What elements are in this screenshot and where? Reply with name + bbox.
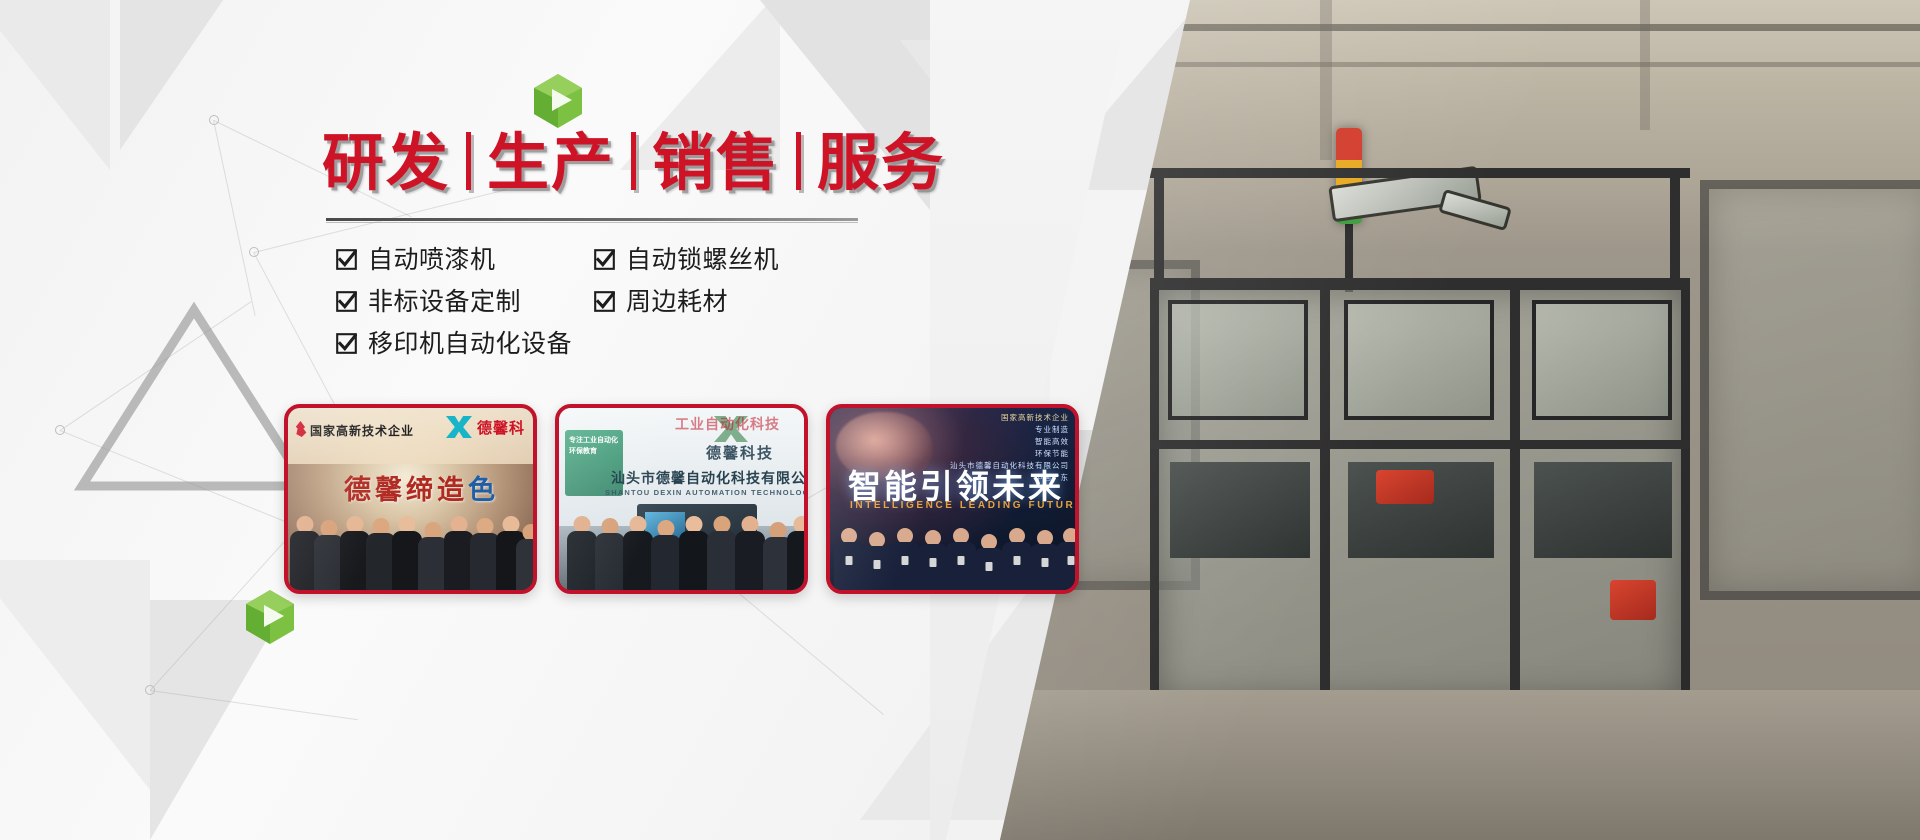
- machine-upright: [1510, 280, 1520, 710]
- machine-crossbar: [1150, 278, 1690, 290]
- headline-word-4: 服务: [817, 132, 945, 194]
- thumb2-brand: 德馨科技: [706, 442, 774, 463]
- thumb3-tag-2: 环保节能: [950, 448, 1069, 460]
- list-item: 自动锁螺丝机: [594, 238, 884, 280]
- hexagon-play-icon: [530, 72, 586, 128]
- machine-upright: [1154, 168, 1164, 288]
- machine-upright: [1320, 280, 1330, 710]
- list-item-label: 周边耗材: [626, 289, 728, 314]
- machine-window: [1344, 300, 1494, 420]
- ceiling-beam: [1000, 62, 1920, 67]
- thumb2-green-card-text: 专注工业自动化 环保教育: [565, 430, 623, 463]
- ceiling-beam: [1000, 24, 1920, 31]
- headline-word-2: 生产: [487, 132, 615, 194]
- machine-top-rail: [1150, 168, 1690, 178]
- photo-gallery: 国家高新技术企业 德馨科 德馨缔造色: [284, 404, 1079, 594]
- headline-separator: [466, 132, 471, 190]
- thumb1-slogan: 德馨缔造色: [344, 468, 499, 507]
- automation-machine: [1140, 110, 1700, 770]
- thumb2-company-en: SHANTOU DEXIN AUTOMATION TECHNOLOGY CO.,…: [605, 488, 804, 497]
- gallery-thumb-exhibition-booth[interactable]: 专注工业自动化 环保教育 工业自动化科技 德馨科技 汕头市德馨自动化科技有限公司…: [555, 404, 808, 594]
- thumb1-badge-text: 国家高新技术企业: [310, 422, 414, 439]
- factory-automation-machine-photo: [1000, 0, 1920, 840]
- list-item-label: 自动喷漆机: [368, 247, 496, 272]
- thumb2-brand-red: 工业自动化科技: [675, 414, 780, 434]
- checkbox-checked-icon: [336, 249, 357, 270]
- thumb1-brand: 德馨科: [477, 417, 525, 438]
- gallery-thumb-intelligent-future[interactable]: 国家高新技术企业 专业制造 智能高效 环保节能 汕头市德馨自动化科技有限公司 中…: [826, 404, 1079, 594]
- checkbox-checked-icon: [336, 291, 357, 312]
- list-item: 非标设备定制: [336, 280, 594, 322]
- machine-red-module: [1610, 580, 1656, 620]
- banner-content: 研发 生产 销售 服务 自动喷漆机: [0, 0, 1080, 840]
- checkbox-checked-icon: [336, 333, 357, 354]
- feature-list: 自动喷漆机 自动锁螺丝机 非标设备定制: [336, 238, 896, 364]
- headline-word-3: 销售: [652, 132, 780, 194]
- crowd-group: [559, 510, 804, 590]
- divider: [326, 218, 858, 221]
- gallery-thumb-award-ceremony[interactable]: 国家高新技术企业 德馨科 德馨缔造色: [284, 404, 537, 594]
- thumb3-tag-1: 智能高效: [950, 436, 1069, 448]
- headline-separator: [796, 132, 801, 190]
- machine-upright: [1670, 168, 1680, 288]
- machine-crossbar: [1150, 440, 1690, 449]
- background-rack: [1700, 180, 1920, 600]
- crowd-group: [288, 504, 533, 590]
- machine-control-panel: [1170, 462, 1310, 558]
- list-item-label: 非标设备定制: [368, 289, 521, 314]
- headline-word-1: 研发: [322, 132, 450, 194]
- x-mark-icon: [446, 416, 472, 438]
- machine-control-panel: [1534, 462, 1672, 558]
- crowd-group: [830, 520, 1075, 590]
- checkbox-checked-icon: [594, 291, 615, 312]
- machine-window: [1532, 300, 1672, 420]
- page-title: 研发 生产 销售 服务: [322, 132, 945, 194]
- hero-banner: 研发 生产 销售 服务 自动喷漆机: [0, 0, 1920, 840]
- thumb2-company-cn: 汕头市德馨自动化科技有限公司: [611, 468, 804, 488]
- dexin-logo: 德馨科: [446, 416, 525, 438]
- factory-floor: [1000, 690, 1920, 840]
- hexagon-play-icon: [242, 588, 298, 644]
- checkbox-checked-icon: [594, 249, 615, 270]
- list-item-label: 自动锁螺丝机: [626, 247, 779, 272]
- machine-window: [1168, 300, 1308, 420]
- headline-separator: [631, 132, 636, 190]
- list-item: 自动喷漆机: [336, 238, 594, 280]
- machine-red-module: [1376, 470, 1434, 504]
- thumb3-subtitle: INTELLIGENCE LEADING FUTURE: [850, 500, 1075, 511]
- list-item: 周边耗材: [594, 280, 884, 322]
- list-item: 移印机自动化设备: [336, 322, 896, 364]
- thumb3-tag-highlight: 国家高新技术企业: [950, 412, 1069, 424]
- thumb1-slogan-accent: 色: [468, 475, 499, 505]
- thumb3-tag-0: 专业制造: [950, 424, 1069, 436]
- list-item-label: 移印机自动化设备: [368, 331, 572, 356]
